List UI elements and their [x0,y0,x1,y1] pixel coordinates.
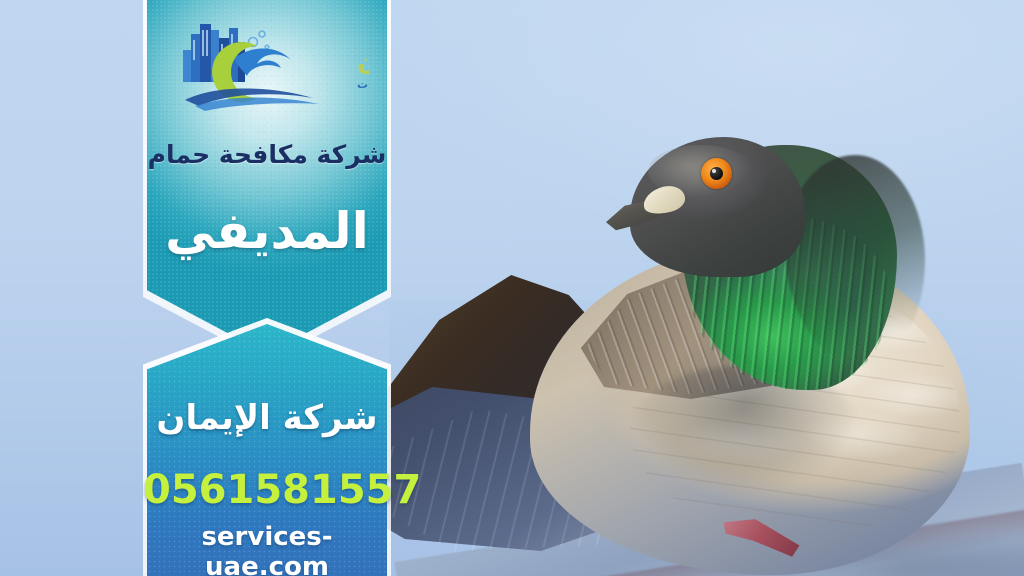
headline-text: شركة مكافحة حمام [143,140,391,169]
pigeon-eye-glint [712,169,716,173]
phone-number[interactable]: 0561581557 [143,467,391,513]
info-panel: الايمان للتنظيف ومكافحة الحشرات شركة مكا… [143,0,391,576]
logo-brand-text: الايمان [357,47,369,76]
advertisement-banner: الايمان للتنظيف ومكافحة الحشرات شركة مكا… [0,0,1024,576]
pigeon-photo [330,95,1024,576]
location-name-text: المديفي [143,205,391,258]
website-url[interactable]: services-uae.com [143,522,391,576]
company-name-text: شركة الإيمان [143,398,391,438]
company-logo: الايمان للتنظيف ومكافحة الحشرات [161,12,369,112]
logo-tagline-text: للتنظيف ومكافحة الحشرات [357,78,369,91]
